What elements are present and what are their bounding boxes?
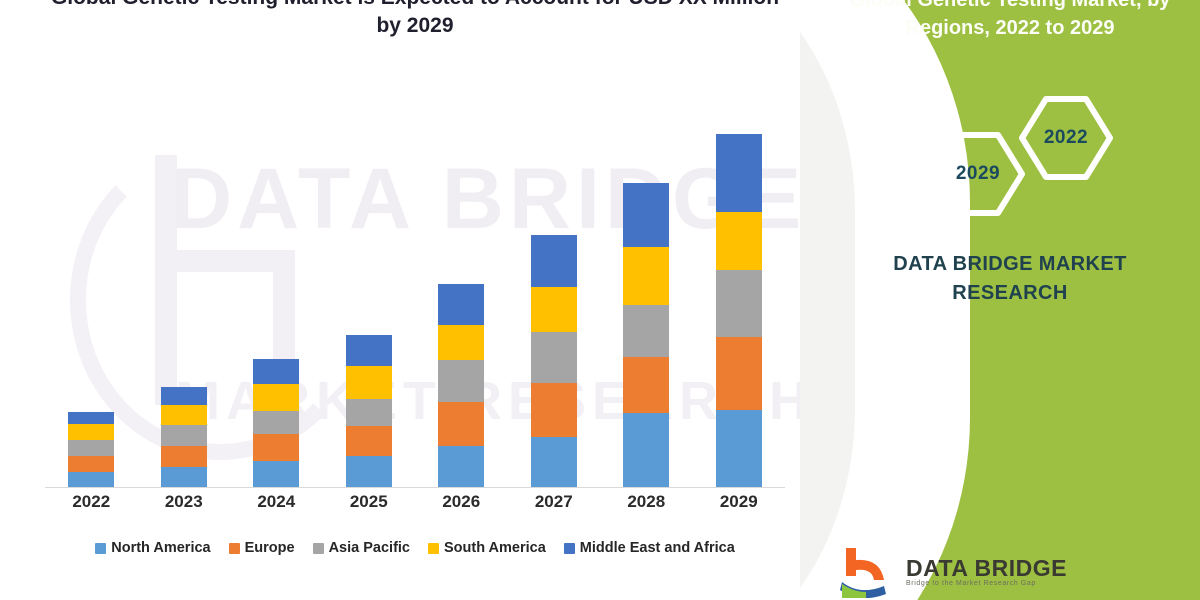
bar-segment-south-america[interactable]: [716, 212, 762, 270]
bar-series-container: [45, 95, 785, 488]
x-axis-label-2025: 2025: [323, 492, 415, 512]
legend-item-europe[interactable]: Europe: [229, 540, 295, 556]
bar-segment-north-america[interactable]: [253, 461, 299, 488]
hexagon-2029-label: 2029: [956, 163, 1000, 185]
bar-segment-asia-pacific[interactable]: [623, 305, 669, 357]
legend-item-north-america[interactable]: North America: [95, 540, 210, 556]
legend-swatch-icon: [564, 543, 575, 554]
bar-segment-europe[interactable]: [531, 383, 577, 437]
logo-line1: DATA BRIDGE: [906, 556, 1067, 580]
bar-segment-north-america[interactable]: [161, 467, 207, 488]
legend-swatch-icon: [428, 543, 439, 554]
bar-segment-europe[interactable]: [716, 337, 762, 410]
legend-label: Asia Pacific: [329, 540, 410, 556]
stacked-bar[interactable]: [716, 134, 762, 488]
bar-segment-south-america[interactable]: [346, 366, 392, 399]
company-logo: DATA BRIDGE Bridge to the Market Researc…: [840, 546, 1067, 598]
bar-segment-north-america[interactable]: [68, 472, 114, 488]
legend-label: Middle East and Africa: [580, 540, 735, 556]
x-axis-label-2029: 2029: [693, 492, 785, 512]
legend-swatch-icon: [95, 543, 106, 554]
bar-segment-asia-pacific[interactable]: [253, 411, 299, 434]
bar-segment-north-america[interactable]: [716, 410, 762, 488]
bar-segment-middle-east-and-africa[interactable]: [346, 335, 392, 366]
bar-segment-north-america[interactable]: [531, 437, 577, 488]
chart-legend: North AmericaEuropeAsia PacificSouth Ame…: [45, 540, 785, 556]
bar-segment-asia-pacific[interactable]: [716, 270, 762, 337]
bar-segment-middle-east-and-africa[interactable]: [716, 134, 762, 212]
stacked-bar[interactable]: [623, 183, 669, 488]
bar-segment-south-america[interactable]: [253, 384, 299, 411]
bar-segment-north-america[interactable]: [623, 413, 669, 488]
bar-segment-asia-pacific[interactable]: [438, 360, 484, 402]
stacked-bar[interactable]: [68, 412, 114, 488]
bar-segment-north-america[interactable]: [346, 456, 392, 488]
bar-segment-asia-pacific[interactable]: [161, 425, 207, 446]
legend-label: North America: [111, 540, 210, 556]
bar-group-2026[interactable]: [415, 95, 507, 488]
legend-swatch-icon: [313, 543, 324, 554]
bar-group-2028[interactable]: [600, 95, 692, 488]
x-axis-label-2027: 2027: [508, 492, 600, 512]
bar-segment-middle-east-and-africa[interactable]: [531, 235, 577, 287]
bar-group-2023[interactable]: [138, 95, 230, 488]
bar-segment-europe[interactable]: [438, 402, 484, 446]
x-axis-label-2023: 2023: [138, 492, 230, 512]
x-axis-labels: 20222023202420252026202720282029: [45, 492, 785, 512]
x-axis-label-2028: 2028: [600, 492, 692, 512]
bar-segment-south-america[interactable]: [438, 325, 484, 360]
stacked-bar[interactable]: [161, 387, 207, 488]
x-axis-line: [45, 487, 785, 488]
chart-title: Global Genetic Testing Market is Expecte…: [45, 0, 785, 41]
bar-segment-europe[interactable]: [623, 357, 669, 413]
legend-item-asia-pacific[interactable]: Asia Pacific: [313, 540, 410, 556]
bar-group-2027[interactable]: [508, 95, 600, 488]
bridge-logo-icon: [840, 546, 894, 598]
bar-segment-asia-pacific[interactable]: [68, 440, 114, 456]
legend-item-south-america[interactable]: South America: [428, 540, 546, 556]
bar-segment-middle-east-and-africa[interactable]: [68, 412, 114, 424]
hexagon-2029: 2029: [930, 131, 1026, 217]
infographic-page: DATA BRIDGE MARKET RESEARCH Global Genet…: [0, 0, 1200, 600]
bar-segment-middle-east-and-africa[interactable]: [623, 183, 669, 247]
stacked-bar[interactable]: [346, 335, 392, 488]
bar-group-2029[interactable]: [693, 95, 785, 488]
stacked-bar[interactable]: [438, 284, 484, 488]
bar-segment-north-america[interactable]: [438, 446, 484, 488]
brand-name-line2: RESEARCH: [825, 279, 1195, 308]
legend-label: Europe: [245, 540, 295, 556]
bottom-strip: [0, 594, 830, 600]
bar-segment-south-america[interactable]: [161, 405, 207, 425]
brand-name: DATA BRIDGE MARKET RESEARCH: [825, 250, 1195, 308]
bar-segment-middle-east-and-africa[interactable]: [438, 284, 484, 325]
bar-segment-asia-pacific[interactable]: [531, 332, 577, 383]
bar-segment-europe[interactable]: [346, 426, 392, 456]
hexagon-2022: 2022: [1018, 95, 1114, 181]
x-axis-label-2022: 2022: [45, 492, 137, 512]
hexagon-2022-label: 2022: [1044, 127, 1088, 149]
bar-group-2024[interactable]: [230, 95, 322, 488]
brand-name-line1: DATA BRIDGE MARKET: [825, 250, 1195, 279]
x-axis-label-2024: 2024: [230, 492, 322, 512]
bar-group-2025[interactable]: [323, 95, 415, 488]
stacked-bar[interactable]: [253, 359, 299, 488]
stacked-bar[interactable]: [531, 235, 577, 488]
legend-item-middle-east-and-africa[interactable]: Middle East and Africa: [564, 540, 735, 556]
panel-title: Global Genetic Testing Market, by Region…: [830, 0, 1190, 42]
hexagon-group: 2022 2029: [900, 95, 1160, 215]
bar-segment-middle-east-and-africa[interactable]: [253, 359, 299, 384]
bar-segment-europe[interactable]: [68, 456, 114, 472]
company-logo-wordmark: DATA BRIDGE Bridge to the Market Researc…: [906, 556, 1067, 587]
plot-area: [45, 95, 785, 488]
brand-panel: Global Genetic Testing Market, by Region…: [800, 0, 1200, 600]
logo-tagline: Bridge to the Market Research Gap: [906, 580, 1067, 587]
bar-segment-asia-pacific[interactable]: [346, 399, 392, 426]
bar-segment-europe[interactable]: [253, 434, 299, 461]
bar-group-2022[interactable]: [45, 95, 137, 488]
legend-label: South America: [444, 540, 546, 556]
bar-segment-south-america[interactable]: [68, 424, 114, 440]
bar-segment-europe[interactable]: [161, 446, 207, 467]
bar-segment-south-america[interactable]: [531, 287, 577, 332]
chart-panel: Global Genetic Testing Market is Expecte…: [0, 0, 830, 600]
x-axis-label-2026: 2026: [415, 492, 507, 512]
legend-swatch-icon: [229, 543, 240, 554]
bar-segment-south-america[interactable]: [623, 247, 669, 305]
bar-segment-middle-east-and-africa[interactable]: [161, 387, 207, 405]
